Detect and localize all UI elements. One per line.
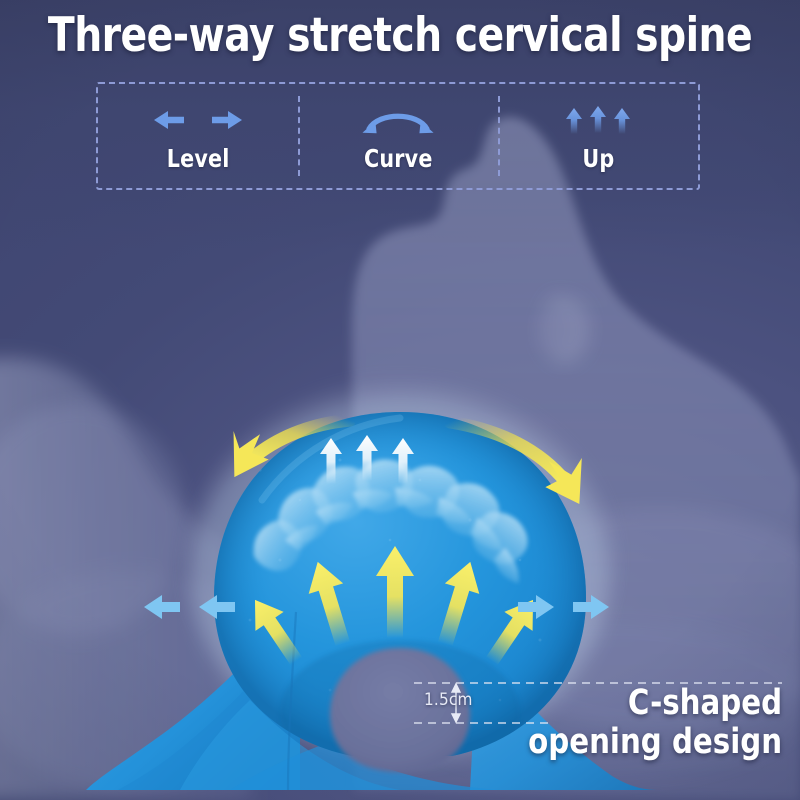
product-marketing-image: 1.5cm Three-way stretch cervical spine [0, 0, 800, 800]
feature-item-level: Level [98, 84, 298, 188]
feature-item-curve: Curve [298, 84, 498, 188]
feature-label-up: Up [582, 144, 614, 173]
caption-block: C-shaped opening design [528, 684, 782, 762]
feature-label-level: Level [167, 144, 230, 173]
caption-line-1: C-shaped [528, 684, 782, 723]
curved-double-arrow-icon [352, 100, 444, 140]
feature-highlight-box: Level Curve [96, 82, 700, 190]
measurement-value-label: 1.5cm [424, 690, 473, 710]
horizontal-double-arrow-icon [152, 100, 244, 140]
page-title: Three-way stretch cervical spine [28, 8, 772, 63]
feature-label-curve: Curve [364, 144, 433, 173]
caption-line-2: opening design [528, 723, 782, 762]
feature-item-up: Up [498, 84, 698, 188]
triple-up-arrow-icon [561, 100, 635, 140]
